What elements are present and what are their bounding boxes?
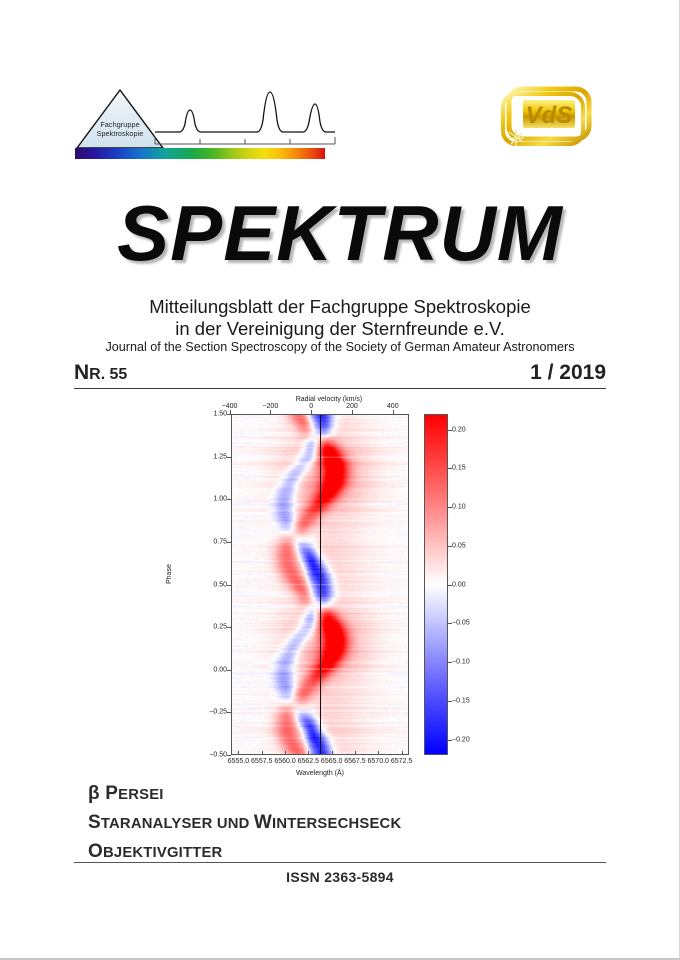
chart-colorbar-tick-label: 0.00	[452, 581, 466, 588]
chart-ytick-label: −0.25	[209, 709, 227, 716]
issue-number-prefix: N	[74, 361, 89, 384]
chart-xtick-mark	[355, 751, 356, 755]
chart-ytick-mark	[227, 670, 231, 671]
vds-logo: VdS	[497, 80, 597, 152]
chart-xtick-label: 6560.0	[274, 758, 295, 765]
chart-xtick-mark	[238, 751, 239, 755]
headline-item: STARANALYSER UND WINTERSECHSECK	[88, 809, 608, 838]
chart-colorbar	[424, 414, 448, 755]
chart-colorbar-tick-label: −0.05	[452, 620, 470, 627]
chart-colorbar-tick-label: −0.10	[452, 659, 470, 666]
masthead: Fachgruppe Spektroskopie	[0, 0, 680, 180]
headline-2-rest: BJEKTIVGITTER	[103, 845, 222, 861]
magazine-cover-page: Fachgruppe Spektroskopie	[0, 0, 680, 960]
chart-ytick-mark	[227, 542, 231, 543]
page-title: SPEKTRUM	[0, 188, 680, 279]
chart-xtick-mark	[285, 751, 286, 755]
chart-xtick-label: 6557.5	[251, 758, 272, 765]
headline-item: β PERSEI	[88, 780, 608, 809]
chart-colorbar-tick-label: 0.15	[452, 465, 466, 472]
headline-list: β PERSEI STARANALYSER UND WINTERSECHSECK…	[88, 780, 608, 867]
chart-colorbar-tick-mark	[448, 740, 452, 741]
chart-ytick-mark	[227, 585, 231, 586]
headline-1-lead2: W	[254, 812, 272, 833]
chart-ytick-mark	[227, 414, 231, 415]
chart-ytick-mark	[227, 627, 231, 628]
chart-colorbar-tick-mark	[448, 623, 452, 624]
chart-colorbar-tick-mark	[448, 430, 452, 431]
chart-colorbar-tick-mark	[448, 701, 452, 702]
chart-ytick-label: 0.00	[213, 666, 227, 673]
chart-xtick-label: 6562.5	[298, 758, 319, 765]
issue-number-rest: R. 55	[89, 366, 127, 383]
chart-xtick-label: 6572.5	[391, 758, 412, 765]
chart-ytick-label: 0.50	[213, 581, 227, 588]
chart-colorbar-tick-label: 0.05	[452, 542, 466, 549]
chart-top-xtick-label: 200	[346, 403, 358, 410]
chart-colorbar-tick-mark	[448, 662, 452, 663]
chart-ytick-mark	[227, 457, 231, 458]
chart-ytick-label: 0.75	[213, 538, 227, 545]
chart-ytick-mark	[227, 712, 231, 713]
prism-triangle-icon	[75, 88, 165, 150]
chart-colorbar-tick-mark	[448, 468, 452, 469]
zero-velocity-line	[320, 415, 321, 754]
chart-top-axis-label: Radial velocity (km/s)	[186, 396, 472, 403]
chart-colorbar-tick-label: 0.20	[452, 426, 466, 433]
cover-figure: Radial velocity (km/s) −400−2000200400 1…	[186, 396, 486, 771]
headline-0-lead: β P	[88, 783, 118, 804]
chart-top-xtick-label: −400	[222, 403, 238, 410]
spectrum-trace-icon	[153, 88, 337, 146]
chart-top-xtick-label: 400	[387, 403, 399, 410]
subtitle-english: Journal of the Section Spectroscopy of t…	[0, 340, 680, 354]
chart-top-xtick-label: −200	[262, 403, 278, 410]
issue-number: NR. 55	[74, 361, 127, 385]
chart-xtick-label: 6567.5	[344, 758, 365, 765]
chart-colorbar-tick-mark	[448, 546, 452, 547]
chart-colorbar-tick-mark	[448, 507, 452, 508]
subtitle-german-line1: Mitteilungsblatt der Fachgruppe Spektros…	[0, 296, 680, 318]
chart-xtick-label: 6555.0	[228, 758, 249, 765]
subtitle-german: Mitteilungsblatt der Fachgruppe Spektros…	[0, 296, 680, 340]
chart-ytick-label: 1.25	[213, 453, 227, 460]
chart-ytick-label: 1.50	[213, 411, 227, 418]
chart-colorbar-tick-label: −0.20	[452, 736, 470, 743]
headline-2-lead: O	[88, 841, 103, 862]
issue-date: 1 / 2019	[530, 361, 606, 385]
chart-top-xtick-label: 0	[309, 403, 313, 410]
prism-label-line1: Fachgruppe	[81, 120, 159, 129]
chart-ytick-mark	[227, 755, 231, 756]
vds-logo-text: VdS	[526, 102, 573, 129]
chart-xlabel: Wavelength (Å)	[231, 770, 409, 777]
chart-ytick-label: −0.50	[209, 752, 227, 759]
issn-text: ISSN 2363-5894	[0, 869, 680, 885]
prism-label: Fachgruppe Spektroskopie	[81, 120, 159, 138]
prism-label-line2: Spektroskopie	[81, 129, 159, 138]
issn-divider	[74, 862, 606, 863]
chart-colorbar-tick-label: −0.15	[452, 697, 470, 704]
chart-colorbar-tick-label: 0.10	[452, 504, 466, 511]
chart-xtick-mark	[308, 751, 309, 755]
chart-xtick-mark	[332, 751, 333, 755]
chart-ytick-label: 0.25	[213, 624, 227, 631]
headline-0-rest: ERSEI	[118, 787, 163, 803]
chart-xtick-mark	[378, 751, 379, 755]
chart-plot-area	[231, 414, 409, 755]
chart-xtick-mark	[262, 751, 263, 755]
fachgruppe-spektroskopie-logo: Fachgruppe Spektroskopie	[75, 88, 337, 160]
subtitle-german-line2: in der Vereinigung der Sternfreunde e.V.	[0, 318, 680, 340]
chart-xtick-label: 6570.0	[368, 758, 389, 765]
chart-xtick-mark	[402, 751, 403, 755]
chart-colorbar-tick-mark	[448, 585, 452, 586]
headline-1-lead: S	[88, 812, 101, 833]
chart-xtick-label: 6565.0	[321, 758, 342, 765]
headline-1-rest: TARANALYSER UND	[101, 816, 254, 832]
issue-line: NR. 55 1 / 2019	[74, 356, 606, 389]
chart-ylabel: Phase	[166, 564, 173, 584]
chart-ytick-mark	[227, 499, 231, 500]
spectrum-color-bar	[75, 148, 325, 159]
headline-1-rest2: INTERSECHSECK	[272, 816, 401, 832]
chart-ytick-label: 1.00	[213, 496, 227, 503]
